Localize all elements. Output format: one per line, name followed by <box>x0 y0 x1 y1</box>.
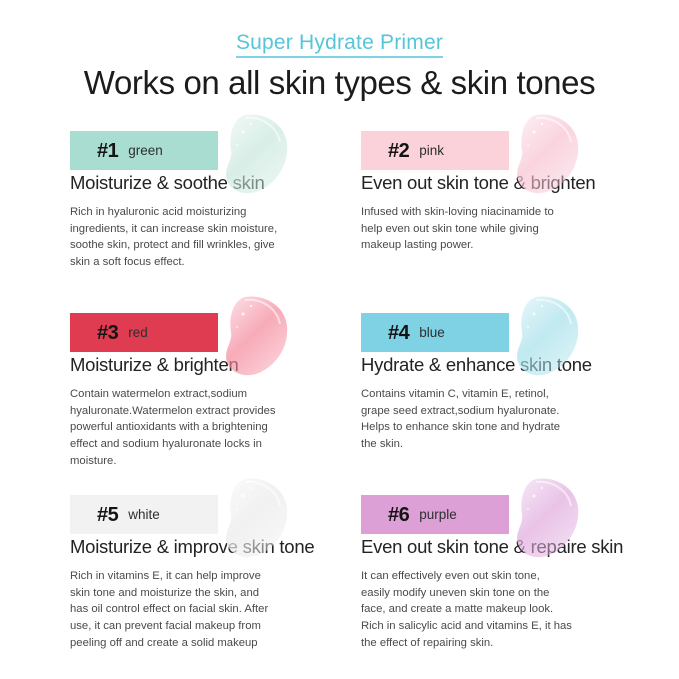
card-heading: Moisturize & soothe skin <box>60 171 345 194</box>
card-body: Rich in hyaluronic acid moisturizing ing… <box>60 204 345 270</box>
card-body: It can effectively even out skin tone, e… <box>351 568 636 651</box>
badge-color-name: pink <box>419 144 444 158</box>
benefits-grid: #1 green <box>60 112 636 662</box>
badge-number: #3 <box>97 323 118 343</box>
card-heading: Moisturize & brighten <box>60 353 345 376</box>
card-heading: Even out skin tone & brighten <box>351 171 636 194</box>
benefit-card-2: #2 pink <box>351 112 636 294</box>
badge-number: #4 <box>388 323 409 343</box>
card-heading: Even out skin tone & repaire skin <box>351 535 636 558</box>
benefit-card-6: #6 purple <box>351 476 636 662</box>
infographic-page: Super Hydrate Primer Works on all skin t… <box>0 0 679 679</box>
badge-color-name: blue <box>419 326 445 340</box>
card-heading: Hydrate & enhance skin tone <box>351 353 636 376</box>
badge-color-name: white <box>128 508 160 522</box>
benefit-card-3: #3 red <box>60 294 345 476</box>
badge-bar-5: #5 white <box>70 495 218 534</box>
badge-row: #1 green <box>60 112 345 170</box>
badge-number: #1 <box>97 141 118 161</box>
brand-line: Super Hydrate Primer <box>0 31 679 58</box>
benefit-card-4: #4 blue <box>351 294 636 476</box>
page-title: Works on all skin types & skin tones <box>0 62 679 104</box>
card-body: Infused with skin-loving niacinamide to … <box>351 204 636 254</box>
badge-bar-6: #6 purple <box>361 495 509 534</box>
badge-color-name: purple <box>419 508 457 522</box>
badge-row: #6 purple <box>351 476 636 534</box>
badge-bar-1: #1 green <box>70 131 218 170</box>
badge-row: #2 pink <box>351 112 636 170</box>
badge-color-name: red <box>128 326 148 340</box>
badge-row: #3 red <box>60 294 345 352</box>
badge-row: #5 white <box>60 476 345 534</box>
badge-color-name: green <box>128 144 163 158</box>
badge-bar-3: #3 red <box>70 313 218 352</box>
card-body: Contains vitamin C, vitamin E, retinol, … <box>351 386 636 452</box>
card-body: Contain watermelon extract,sodium hyalur… <box>60 386 345 469</box>
benefit-card-5: #5 white <box>60 476 345 662</box>
badge-number: #5 <box>97 505 118 525</box>
brand-title: Super Hydrate Primer <box>236 31 443 58</box>
badge-bar-4: #4 blue <box>361 313 509 352</box>
card-body: Rich in vitamins E, it can help improve … <box>60 568 345 651</box>
badge-number: #6 <box>388 505 409 525</box>
badge-number: #2 <box>388 141 409 161</box>
badge-row: #4 blue <box>351 294 636 352</box>
badge-bar-2: #2 pink <box>361 131 509 170</box>
benefit-card-1: #1 green <box>60 112 345 294</box>
card-heading: Moisturize & improve skin tone <box>60 535 345 558</box>
